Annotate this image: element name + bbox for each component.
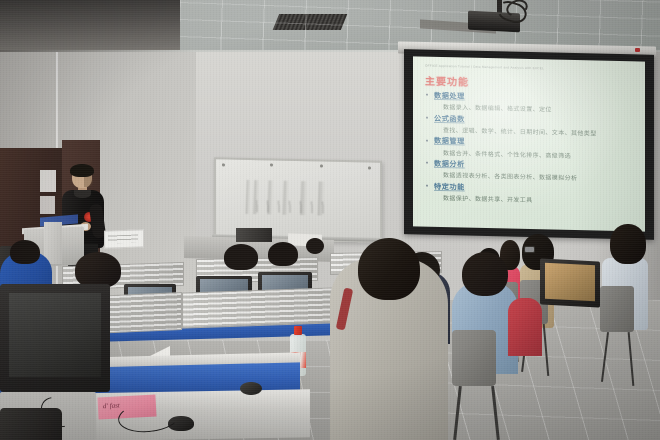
chair-back <box>600 286 634 332</box>
desk-partition <box>182 287 334 328</box>
slide-surface: OFFICE Application Tutorial | Data Manag… <box>413 56 645 231</box>
sticky-note-text: d' fast <box>103 401 120 410</box>
chair-leg <box>543 324 550 376</box>
foreground-equipment <box>0 408 62 440</box>
slide-title: 主要功能 <box>425 73 469 89</box>
presenter-hair <box>70 164 94 177</box>
monitor-screen <box>545 262 595 301</box>
slide-group: 公式函数 查找、逻辑、数学、统计、日期时间、文本、其他类型 <box>425 113 635 138</box>
partition-slats <box>183 288 333 327</box>
av-equipment-box <box>236 228 272 242</box>
chair-back <box>452 330 496 386</box>
student-red-shirt <box>508 298 542 356</box>
computer-mouse <box>240 382 262 395</box>
whiteboard-bolt <box>320 164 323 167</box>
slide-group: 特定功能 数据保护、数据共享、开发工具 <box>425 181 635 206</box>
slide-group: 数据分析 数据透视表分析、各类图表分析、数据模拟分析 <box>425 159 635 184</box>
projection-screen: OFFICE Application Tutorial | Data Manag… <box>404 49 654 240</box>
whiteboard-bolt <box>270 163 273 166</box>
chair-leg <box>628 332 635 386</box>
whiteboard-writing-line2 <box>256 200 330 214</box>
slide-group: 数据管理 数据合并、条件格式、个性化排序、高级筛选 <box>425 136 635 161</box>
monitor-foreground <box>0 284 110 392</box>
slide-body: 数据处理 数据录入、数据编辑、格式设置、定位 公式函数 查找、逻辑、数学、统计、… <box>425 91 635 209</box>
wall-notice-paper-2 <box>40 196 55 214</box>
slide-group: 数据处理 数据录入、数据编辑、格式设置、定位 <box>425 91 635 116</box>
slide-header-text: OFFICE Application Tutorial | Data Manag… <box>425 64 544 71</box>
screen-housing-indicator <box>635 48 640 52</box>
student-gray-jacket-head <box>358 238 420 300</box>
glasses-icon <box>524 246 535 253</box>
sign-text-lines <box>108 235 138 244</box>
student-head-back-row <box>224 244 258 270</box>
student-head-back-row <box>268 242 298 266</box>
monitor-screen <box>9 293 101 377</box>
student-head-back-row <box>306 238 324 254</box>
wall-notice-paper <box>40 170 56 192</box>
printed-sign <box>104 229 144 248</box>
student-light-blue-head <box>462 252 508 296</box>
whiteboard-bolt <box>222 163 225 166</box>
presenter-collar <box>74 190 91 198</box>
monitor <box>540 258 600 307</box>
bottle-cap <box>294 326 302 335</box>
student-blue-jacket-head <box>10 240 40 264</box>
attendee-head <box>610 224 646 264</box>
whiteboard-bolt <box>368 166 371 169</box>
student-head-left <box>75 252 121 288</box>
chair-leg <box>601 332 609 382</box>
classroom-photo: OFFICE Application Tutorial | Data Manag… <box>0 0 660 440</box>
